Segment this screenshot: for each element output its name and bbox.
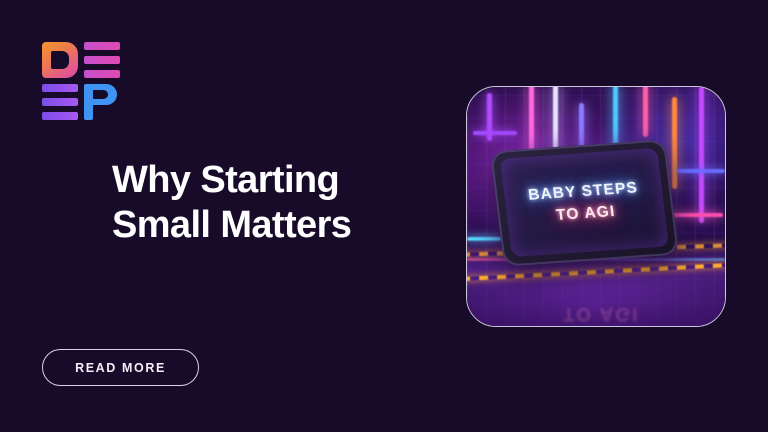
page-title-line-2: Small Matters (112, 203, 442, 248)
neon-tablet-sign: BABY STEPS TO AGI (490, 139, 679, 266)
page-title: Why Starting Small Matters (112, 158, 442, 248)
sign-text-line-1: BABY STEPS (527, 179, 639, 205)
promo-card: Why Starting Small Matters READ MORE (0, 0, 768, 432)
neon-strip-d (677, 169, 725, 173)
logo-letter-e-top-icon (84, 42, 120, 78)
neon-tube-purple (699, 86, 704, 223)
floor-dashed-lights-1 (466, 263, 726, 281)
logo-letter-e-bottom-icon (42, 84, 78, 120)
deep-logo[interactable] (42, 42, 120, 120)
neon-tube-orange (672, 97, 677, 189)
page-title-line-1: Why Starting (112, 158, 442, 203)
article-thumbnail[interactable]: TO AGI BABY STEPS TO AGI (466, 86, 726, 327)
read-more-button[interactable]: READ MORE (42, 349, 199, 386)
neon-tablet-screen: BABY STEPS TO AGI (500, 148, 669, 257)
thumbnail-scene: TO AGI BABY STEPS TO AGI (467, 87, 725, 326)
sign-text-line-2: TO AGI (555, 202, 616, 224)
neon-tube-magenta (643, 86, 648, 137)
thumbnail-reflection-text: TO AGI (563, 302, 639, 324)
neon-strip-a (473, 131, 517, 135)
logo-letter-d-icon (42, 42, 78, 78)
logo-letter-p-icon (84, 84, 120, 120)
